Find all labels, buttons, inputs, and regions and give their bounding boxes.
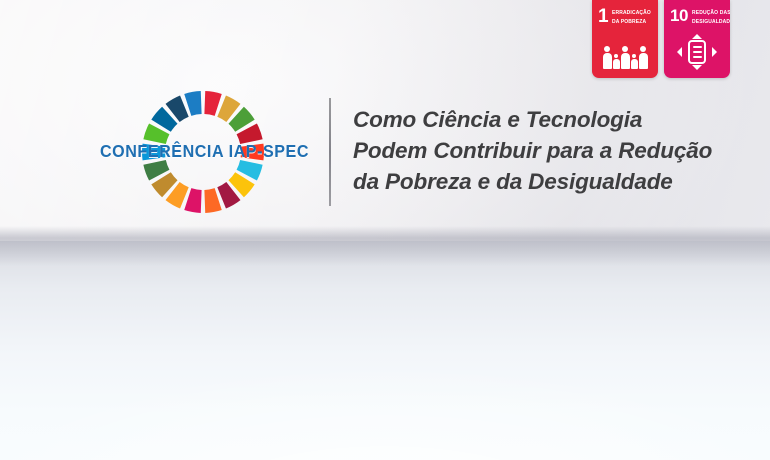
sdg-tile-10-line2: DESIGUALDADES [692, 18, 730, 27]
sdg-tile-10-number: 10 [670, 9, 688, 23]
sdg-tile-1-number: 1 [598, 9, 608, 25]
family-pictogram-icon [592, 46, 658, 69]
sdg-tile-1: 1 ERRADICAÇÃO DA POBREZA [592, 0, 658, 78]
sdg-tile-1-text: ERRADICAÇÃO DA POBREZA [612, 9, 653, 26]
sdg-badge-row: 1 ERRADICAÇÃO DA POBREZA 10 [592, 0, 730, 78]
background-bottom-glow [0, 241, 770, 460]
sdg-tile-10-text: REDUÇÃO DAS DESIGUALDADES [692, 9, 730, 26]
sdg-tile-1-header: 1 ERRADICAÇÃO DA POBREZA [592, 0, 658, 26]
equal-bars-icon [688, 40, 706, 64]
arrow-up-icon [692, 34, 702, 39]
sdg-tile-1-line1: ERRADICAÇÃO [612, 9, 651, 18]
sdg-tile-10-header: 10 REDUÇÃO DAS DESIGUALDADES [664, 0, 730, 26]
background-divider-band [0, 226, 770, 266]
page-title-line-1: Como Ciência e Tecnologia [353, 104, 753, 135]
equality-arrows-icon [664, 35, 730, 69]
vertical-divider [329, 98, 331, 206]
arrow-down-icon [692, 65, 702, 70]
wheel-segment [184, 91, 201, 116]
page-title-line-3: da Pobreza e da Desigualdade [353, 166, 753, 197]
wheel-segment [204, 188, 221, 213]
banner-slide: 1 ERRADICAÇÃO DA POBREZA 10 [0, 0, 770, 460]
page-title: Como Ciência e Tecnologia Podem Contribu… [353, 104, 753, 197]
arrow-left-icon [677, 47, 682, 57]
sdg-tile-10-line1: REDUÇÃO DAS [692, 9, 730, 18]
sdg-tile-10: 10 REDUÇÃO DAS DESIGUALDADES [664, 0, 730, 78]
conference-wordmark: CONFERÊNCIA IAP-SPEC [100, 141, 291, 162]
wheel-segment [204, 91, 221, 116]
sdg-tile-1-line2: DA POBREZA [612, 18, 651, 27]
wheel-segment [184, 188, 201, 213]
arrow-right-icon [712, 47, 717, 57]
page-title-line-2: Podem Contribuir para a Redução [353, 135, 753, 166]
